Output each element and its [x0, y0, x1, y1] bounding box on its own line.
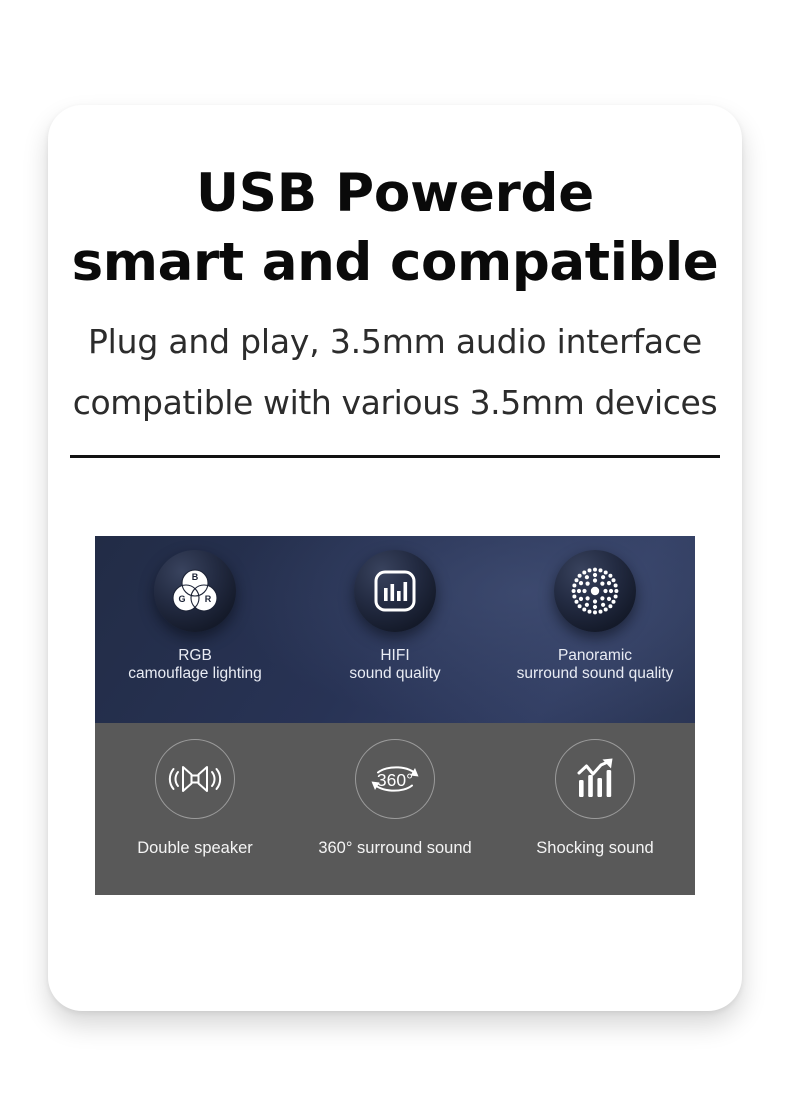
feature-panoramic-label-line2: surround sound quality — [517, 665, 674, 683]
svg-text:B: B — [192, 572, 199, 582]
feature-shocking-sound: Shocking sound — [495, 723, 695, 895]
feature-360-surround: 360° 360° surround sound — [295, 723, 495, 895]
feature-rgb-label-line1: RGB — [128, 647, 262, 665]
surround-360-icon-text: 360° — [377, 770, 413, 790]
surround-360-icon: 360° — [365, 757, 425, 801]
panoramic-orb — [554, 550, 636, 632]
bottom-feature-row: Double speaker 360° — [95, 723, 695, 895]
feature-image-panel: B G R RGB camouflage lighting — [95, 536, 695, 895]
heading-block: USB Powerde smart and compatible Plug an… — [48, 167, 742, 419]
feature-shocking-sound-label: Shocking sound — [536, 839, 653, 858]
feature-hifi-label-line2: sound quality — [349, 665, 440, 683]
feature-panel-bottom: Double speaker 360° — [95, 723, 695, 895]
feature-double-speaker-label: Double speaker — [137, 839, 253, 858]
feature-rgb-label: RGB camouflage lighting — [128, 647, 262, 684]
feature-hifi: HIFI sound quality — [295, 536, 495, 723]
bar-chart-arrow-icon — [571, 756, 619, 802]
svg-text:G: G — [178, 594, 185, 604]
subtitle-line-2: compatible with various 3.5mm devices — [48, 386, 742, 419]
feature-rgb: B G R RGB camouflage lighting — [95, 536, 295, 723]
rgb-orb: B G R — [154, 550, 236, 632]
double-speaker-ring — [155, 739, 235, 819]
feature-hifi-label: HIFI sound quality — [349, 647, 440, 684]
hifi-orb — [354, 550, 436, 632]
section-divider — [70, 455, 720, 458]
shocking-sound-ring — [555, 739, 635, 819]
feature-panoramic: Panoramic surround sound quality — [495, 536, 695, 723]
panoramic-dots-icon — [566, 562, 624, 620]
svg-text:R: R — [205, 594, 212, 604]
feature-panoramic-label: Panoramic surround sound quality — [517, 647, 674, 684]
feature-rgb-label-line2: camouflage lighting — [128, 665, 262, 683]
feature-panoramic-label-line1: Panoramic — [517, 647, 674, 665]
surround-360-ring: 360° — [355, 739, 435, 819]
feature-panel-top: B G R RGB camouflage lighting — [95, 536, 695, 723]
double-speaker-icon — [167, 757, 223, 801]
product-feature-card: USB Powerde smart and compatible Plug an… — [48, 105, 742, 1011]
page-title-line-1: USB Powerde — [48, 167, 742, 220]
subtitle-line-1: Plug and play, 3.5mm audio interface — [48, 325, 742, 358]
rgb-venn-icon: B G R — [169, 565, 221, 617]
equalizer-icon — [370, 566, 420, 616]
page-title-line-2: smart and compatible — [48, 236, 742, 289]
feature-hifi-label-line1: HIFI — [349, 647, 440, 665]
top-feature-row: B G R RGB camouflage lighting — [95, 536, 695, 723]
feature-double-speaker: Double speaker — [95, 723, 295, 895]
feature-360-surround-label: 360° surround sound — [318, 839, 471, 858]
